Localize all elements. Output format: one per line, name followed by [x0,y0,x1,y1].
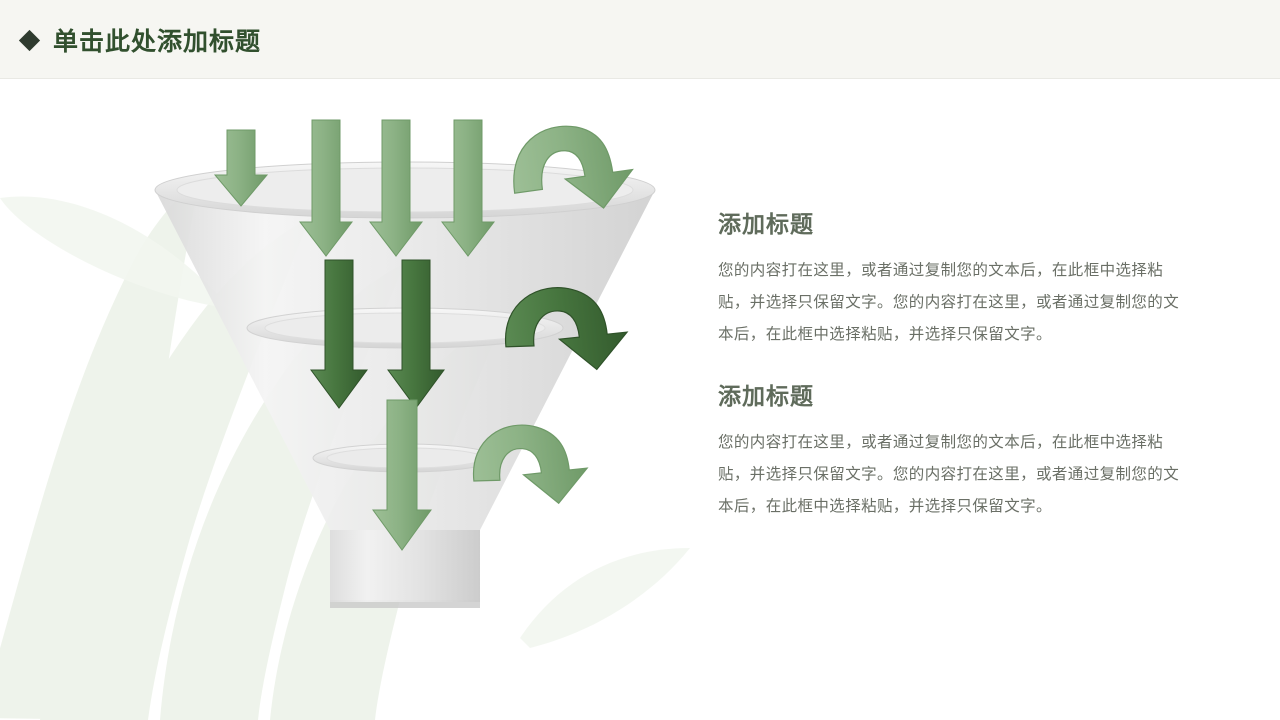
content-block-1-body: 您的内容打在这里，或者通过复制您的文本后，在此框中选择粘贴，并选择只保留文字。您… [718,255,1188,351]
slide: 单击此处添加标题 [0,0,1280,720]
page-title-row: 单击此处添加标题 [22,22,261,58]
content-column: 添加标题 您的内容打在这里，或者通过复制您的文本后，在此框中选择粘贴，并选择只保… [718,205,1188,549]
funnel-diagram [120,110,690,640]
content-block-1-title: 添加标题 [718,205,1188,239]
diamond-icon [19,29,40,50]
page-title: 单击此处添加标题 [53,22,261,58]
content-block-2-body: 您的内容打在这里，或者通过复制您的文本后，在此框中选择粘贴，并选择只保留文字。您… [718,427,1188,523]
content-block-1: 添加标题 您的内容打在这里，或者通过复制您的文本后，在此框中选择粘贴，并选择只保… [718,205,1188,351]
content-block-2: 添加标题 您的内容打在这里，或者通过复制您的文本后，在此框中选择粘贴，并选择只保… [718,377,1188,523]
content-block-2-title: 添加标题 [718,377,1188,411]
